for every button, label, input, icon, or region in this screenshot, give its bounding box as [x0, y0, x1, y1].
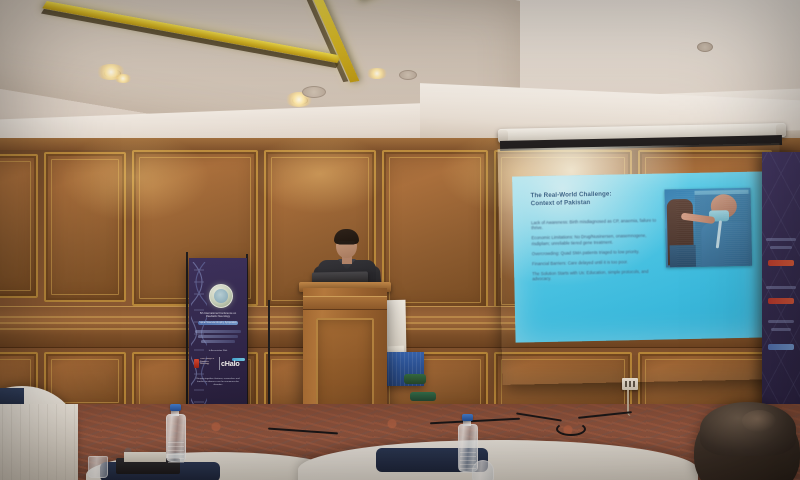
- bottle-body: [166, 414, 186, 462]
- photo-grain: [664, 188, 752, 268]
- banner-rule: [201, 340, 235, 343]
- projection-screen: The Real-World Challenge: Context of Pak…: [498, 143, 785, 385]
- slide-clinical-photo: [664, 188, 752, 268]
- bottle-ribs: [168, 441, 184, 463]
- drinking-glass: [88, 456, 108, 478]
- speaker-glasses-icon: [338, 241, 355, 245]
- banner-pole: [186, 252, 188, 424]
- slide-title: The Real-World Challenge: Context of Pak…: [530, 190, 650, 208]
- slide-bullet-list: Lack of Awareness: Birth misdiagnosed as…: [531, 218, 660, 287]
- conference-seal-logo: [209, 284, 233, 308]
- presentation-slide: The Real-World Challenge: Context of Pak…: [512, 171, 765, 342]
- conference-hall-photo: The Real-World Challenge: Context of Pak…: [0, 0, 800, 480]
- banner-text-line: [766, 238, 796, 241]
- papers-on-tray: [124, 452, 166, 462]
- ceiling-downlight-icon: [366, 68, 388, 79]
- slide-bullet: The Solution Starts with Us: Education, …: [532, 269, 660, 282]
- ceiling-speaker-icon: [697, 42, 713, 52]
- slide-bullet: Financial Barriers: Care delayed until i…: [532, 259, 660, 267]
- dna-helix-icon: [191, 262, 207, 414]
- banner-rule: [198, 335, 238, 338]
- banner-text-line: [770, 246, 792, 249]
- banner-pill: [768, 344, 794, 350]
- slide-bullet: Overcrowding: Quad SMA patients triaged …: [532, 248, 660, 256]
- banner-association-label: In Association With: [198, 350, 238, 352]
- banner-text-line: [768, 320, 794, 323]
- banner-logo-row: Child College of Paediatric Neurology cH…: [194, 356, 242, 372]
- wall-panel: [44, 152, 126, 302]
- banner-text-line: [766, 286, 796, 289]
- equipment-bag: [410, 392, 436, 401]
- water-bottle: [458, 414, 476, 470]
- audience-member-scalp: [742, 410, 776, 432]
- partner-logo: Child College of Paediatric Neurology: [194, 357, 218, 370]
- bottle-ribs: [460, 451, 476, 473]
- socket-slots-icon: [625, 381, 635, 387]
- partner-logo-mark: [194, 359, 199, 368]
- slide-bullet: Lack of Awareness: Birth misdiagnosed as…: [531, 218, 659, 231]
- table-runner: [0, 388, 24, 404]
- equipment-bag: [404, 374, 426, 384]
- wall-panel: [382, 150, 488, 310]
- water-bottle: [166, 404, 184, 460]
- wall-panel: [0, 154, 38, 298]
- ceiling-downlight-icon: [114, 74, 132, 83]
- logo-divider: [219, 357, 220, 370]
- banner-rule: [195, 330, 241, 333]
- tablecloth: [0, 404, 78, 480]
- slide-bullet: Economic Limitations: No Drug/Nusinersen…: [531, 233, 659, 246]
- banner-headline: 5th International Conference on Paediatr…: [196, 312, 240, 318]
- second-roll-up-banner: [762, 152, 800, 420]
- bottle-body: [458, 424, 478, 472]
- partner-logo-text: Child College of Paediatric Neurology: [200, 358, 218, 366]
- banner-pill-text: Spinal Muscular Atrophy Symposium: [198, 322, 238, 325]
- banner-pill: [768, 298, 794, 304]
- banner-footer-text: Bringing together clinicians, researcher…: [193, 378, 243, 387]
- ceiling-vent-icon: [302, 86, 326, 98]
- bottle-cap: [170, 404, 181, 411]
- lectern-trim-band: [303, 296, 387, 310]
- roll-up-banner: 5th International Conference on Paediatr…: [189, 258, 247, 418]
- coiled-cable: [556, 422, 586, 436]
- banner-pill: [768, 260, 794, 266]
- chalo-brand-text: cHalo: [221, 359, 240, 368]
- ceiling-vent-icon: [399, 70, 417, 80]
- bottle-cap: [462, 414, 473, 421]
- banner-text-line: [771, 328, 791, 331]
